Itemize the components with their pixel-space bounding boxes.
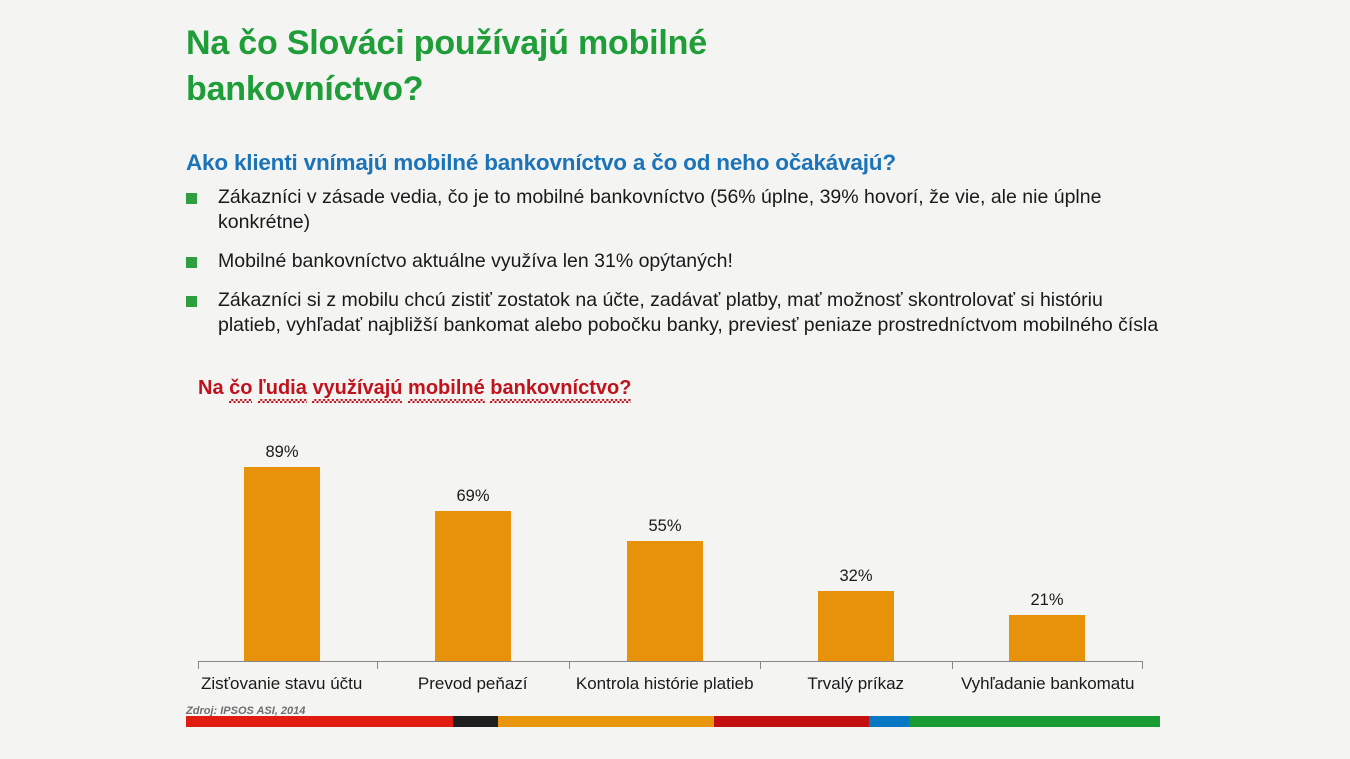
strip-red — [186, 716, 453, 727]
chart-bar — [1009, 615, 1085, 661]
chart-heading-word: ľudia — [258, 377, 307, 400]
x-axis-category-label: Trvalý príkaz — [764, 674, 947, 694]
list-item: Zákazníci si z mobilu chcú zistiť zostat… — [186, 288, 1171, 338]
chart-heading-word: využívajú — [312, 377, 402, 400]
strip-darkred — [714, 716, 869, 727]
x-axis-tick — [760, 662, 761, 669]
x-axis-tick — [198, 662, 199, 669]
chart-heading-word: bankovníctvo? — [490, 377, 631, 400]
bar-value-label: 21% — [997, 591, 1097, 610]
x-axis-tick — [952, 662, 953, 669]
square-bullet-icon — [186, 296, 197, 307]
list-item: Mobilné bankovníctvo aktuálne využíva le… — [186, 249, 1171, 274]
x-axis-category-label: Zisťovanie stavu účtu — [190, 674, 373, 694]
chart-bar — [627, 541, 703, 661]
chart-bar — [818, 591, 894, 661]
page-title: Na čo Slováci používajú mobilné bankovní… — [186, 20, 946, 112]
chart-heading-word: Na — [198, 377, 224, 399]
square-bullet-icon — [186, 257, 197, 268]
chart-bar — [244, 467, 320, 661]
chart-heading-word: mobilné — [408, 377, 485, 400]
x-axis-category-label: Prevod peňazí — [381, 674, 564, 694]
list-item: Zákazníci v zásade vedia, čo je to mobil… — [186, 185, 1171, 235]
bar-value-label: 89% — [232, 443, 332, 462]
section-subtitle: Ako klienti vnímajú mobilné bankovníctvo… — [186, 150, 1196, 176]
chart-heading: Na čo ľudia využívajú mobilné bankovníct… — [198, 377, 631, 400]
x-axis-category-label: Vyhľadanie bankomatu — [956, 674, 1139, 694]
bullet-text: Mobilné bankovníctvo aktuálne využíva le… — [218, 249, 733, 274]
chart-heading-word: čo — [229, 377, 252, 400]
bar-chart: 89%Zisťovanie stavu účtu69%Prevod peňazí… — [186, 412, 1166, 712]
bullet-text: Zákazníci si z mobilu chcú zistiť zostat… — [218, 288, 1171, 338]
bullet-text: Zákazníci v zásade vedia, čo je to mobil… — [218, 185, 1171, 235]
strip-blue — [869, 716, 909, 727]
bar-value-label: 32% — [806, 567, 906, 586]
bottom-color-strip — [186, 716, 1160, 727]
strip-orange — [498, 716, 714, 727]
x-axis-tick — [1142, 662, 1143, 669]
strip-black — [453, 716, 498, 727]
slide-canvas: Na čo Slováci používajú mobilné bankovní… — [0, 0, 1350, 759]
bar-value-label: 69% — [423, 487, 523, 506]
chart-plot-area: 89%Zisťovanie stavu účtu69%Prevod peňazí… — [186, 412, 1143, 662]
bar-value-label: 55% — [615, 517, 715, 536]
chart-bar — [435, 511, 511, 661]
square-bullet-icon — [186, 193, 197, 204]
x-axis-line — [198, 661, 1143, 662]
strip-green — [909, 716, 1160, 727]
x-axis-tick — [377, 662, 378, 669]
x-axis-tick — [569, 662, 570, 669]
x-axis-category-label: Kontrola histórie platieb — [573, 674, 756, 694]
bullet-list: Zákazníci v zásade vedia, čo je to mobil… — [186, 185, 1171, 352]
